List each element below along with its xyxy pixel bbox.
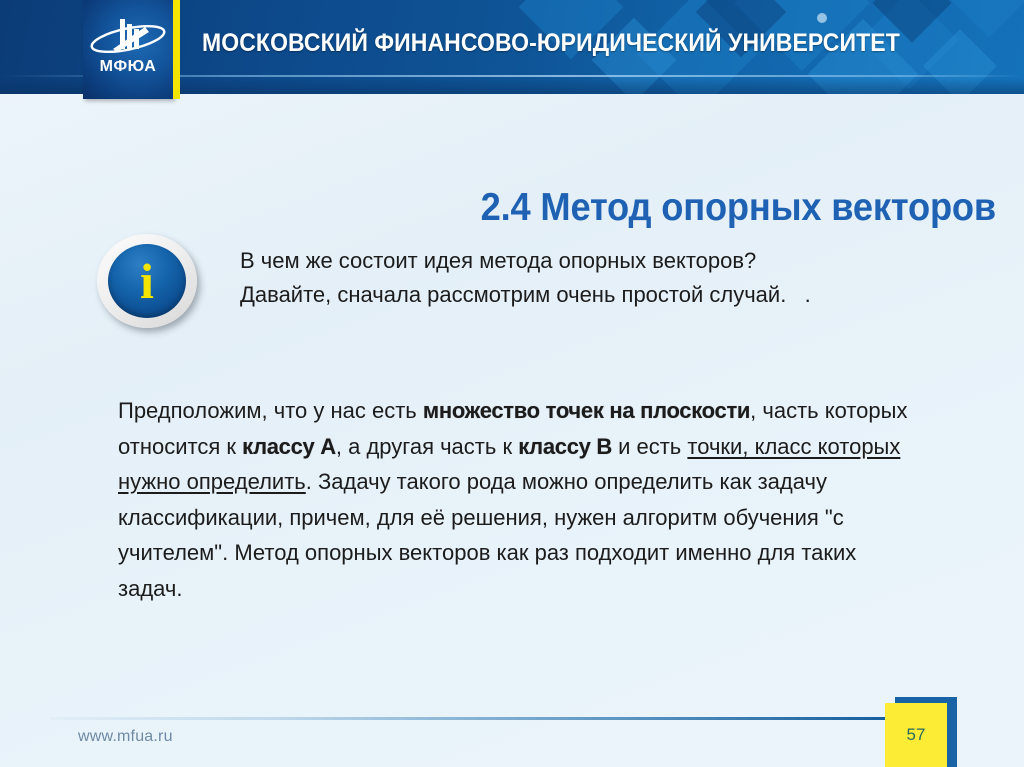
body-emphasis-3: классу B bbox=[518, 434, 612, 459]
mfua-emblem-icon bbox=[83, 13, 173, 59]
logo-wordmark: МФЮА bbox=[83, 58, 173, 76]
presentation-slide: МОСКОВСКИЙ ФИНАНСОВО-ЮРИДИЧЕСКИЙ УНИВЕРС… bbox=[0, 0, 1024, 767]
body-segment-3: , а другая часть к bbox=[336, 434, 518, 459]
intro-line-2: Давайте, сначала рассмотрим очень просто… bbox=[240, 278, 960, 312]
university-name: МОСКОВСКИЙ ФИНАНСОВО-ЮРИДИЧЕСКИЙ УНИВЕРС… bbox=[202, 29, 900, 58]
info-icon: i bbox=[108, 244, 186, 318]
page-number: 57 bbox=[885, 703, 947, 767]
university-logo: МФЮА bbox=[83, 0, 173, 99]
body-paragraph: Предположим, что у нас есть множество то… bbox=[118, 393, 918, 606]
body-emphasis-1: множество точек на плоскости bbox=[423, 398, 750, 423]
body-segment-1: Предположим, что у нас есть bbox=[118, 398, 423, 423]
body-emphasis-2: классу A bbox=[242, 434, 336, 459]
body-segment-4: и есть bbox=[612, 434, 687, 459]
logo-yellow-stripe bbox=[173, 0, 180, 99]
info-badge: i bbox=[97, 234, 203, 334]
intro-text-block: В чем же состоит идея метода опорных век… bbox=[240, 244, 960, 312]
slide-title: 2.4 Метод опорных векторов bbox=[200, 186, 996, 230]
footer-website-url[interactable]: www.mfua.ru bbox=[78, 728, 173, 746]
footer-divider bbox=[50, 717, 950, 720]
intro-line-1: В чем же состоит идея метода опорных век… bbox=[240, 244, 960, 278]
